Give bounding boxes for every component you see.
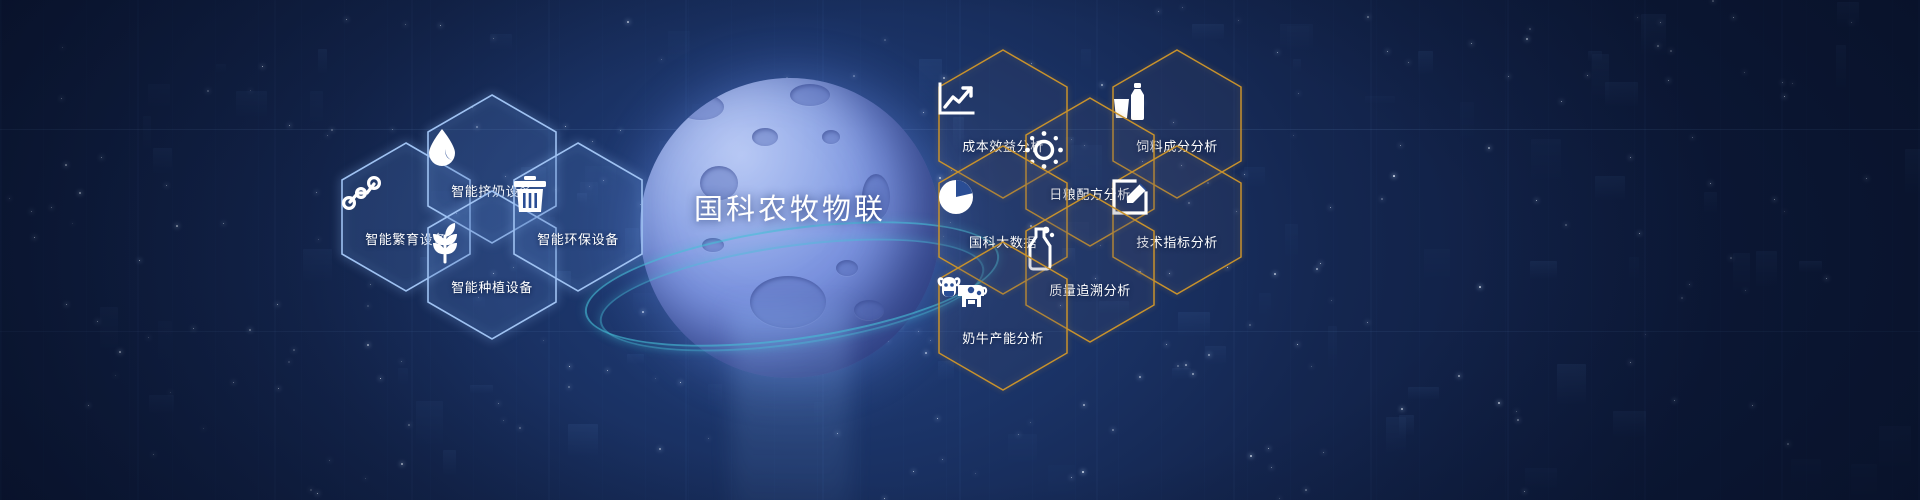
trash-bin-icon bbox=[512, 175, 644, 221]
planet-graphic bbox=[640, 78, 940, 378]
hex-label: 智能环保设备 bbox=[494, 229, 662, 248]
cow-icon bbox=[937, 274, 1069, 320]
hero-banner: 国科农牧物联 智能繁育设备 智能挤奶设备 bbox=[0, 0, 1920, 500]
planet-crater bbox=[752, 128, 778, 146]
hex-equipment-environment[interactable]: 智能环保设备 bbox=[512, 141, 644, 293]
planet-crater bbox=[678, 94, 724, 120]
hex-analysis-cow-capacity[interactable]: 奶牛产能分析 bbox=[937, 240, 1069, 392]
planet-crater bbox=[790, 84, 830, 106]
page-title: 国科农牧物联 bbox=[640, 186, 940, 228]
planet-crater bbox=[822, 130, 840, 144]
hex-label: 奶牛产能分析 bbox=[919, 328, 1087, 347]
